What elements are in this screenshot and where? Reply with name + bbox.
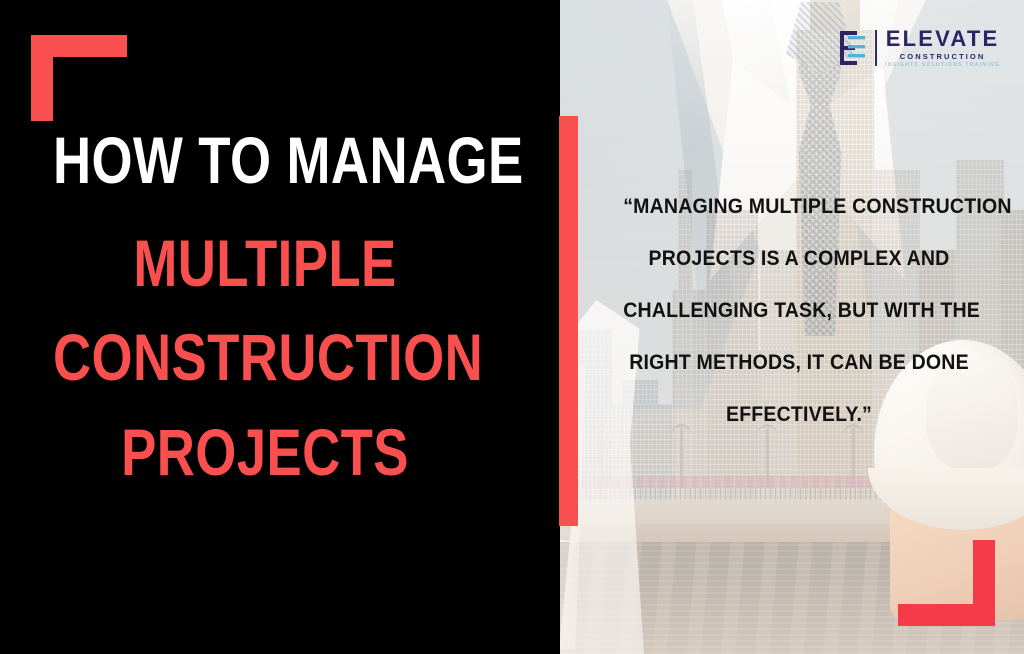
elevate-e-mark-icon <box>837 29 867 67</box>
title-line-1: HOW TO MANAGE <box>53 128 477 193</box>
logo-subtitle: CONSTRUCTION <box>900 53 986 61</box>
bracket-vertical-bar <box>973 540 995 626</box>
bracket-vertical-bar <box>31 35 53 121</box>
quote-line: “MANAGING MULTIPLE CONSTRUCTION <box>623 196 975 217</box>
brand-logo[interactable]: ELEVATE CONSTRUCTION INSIGHTS SOLUTIONS … <box>837 28 1000 68</box>
quote-block: “MANAGING MULTIPLE CONSTRUCTION PROJECTS… <box>610 196 988 425</box>
tower-crown <box>810 0 860 30</box>
title-line-3: CONSTRUCTION <box>53 325 477 390</box>
title-line-4: PROJECTS <box>53 420 477 485</box>
vertical-accent-bar <box>559 116 578 526</box>
lamp-post <box>680 428 683 488</box>
page-title: HOW TO MANAGE MULTIPLE CONSTRUCTION PROJ… <box>0 128 560 485</box>
logo-wordmark: ELEVATE CONSTRUCTION INSIGHTS SOLUTIONS … <box>885 28 1000 68</box>
corner-bracket-bottom-right-icon <box>898 540 995 626</box>
lamp-post <box>766 428 769 488</box>
corner-bracket-top-left-icon <box>31 35 127 121</box>
quote-line: CHALLENGING TASK, BUT WITH THE <box>623 300 975 321</box>
logo-word: ELEVATE <box>886 28 1000 50</box>
quote-line: PROJECTS IS A COMPLEX AND <box>623 248 975 269</box>
poster-canvas: HOW TO MANAGE MULTIPLE CONSTRUCTION PROJ… <box>0 0 1024 654</box>
quote-line: EFFECTIVELY.” <box>623 404 975 425</box>
title-line-2: MULTIPLE <box>53 231 477 296</box>
logo-divider <box>875 30 877 66</box>
quote-line: RIGHT METHODS, IT CAN BE DONE <box>623 352 975 373</box>
lamp-post <box>852 428 855 488</box>
logo-tagline: INSIGHTS SOLUTIONS TRAINING <box>885 63 1000 68</box>
